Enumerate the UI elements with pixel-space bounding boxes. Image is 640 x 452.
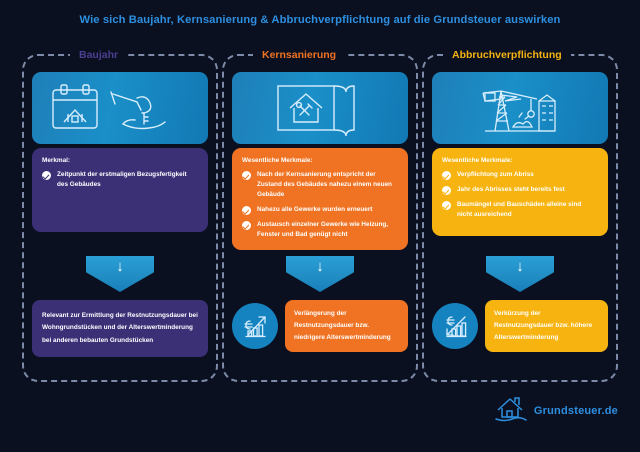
check-icon: [42, 171, 51, 180]
illustration-panel-abbruchverpflichtung: [432, 72, 608, 144]
arrow-down-icon: ↓: [286, 259, 354, 274]
check-icon: [442, 171, 451, 180]
arrow-shape: ↓: [86, 256, 154, 292]
feature-card-abbruchverpflichtung: Wesentliche Merkmale: Verpflichtung zum …: [432, 148, 608, 236]
result-text: Verlängerung der Restnutzungsdauer bzw. …: [285, 300, 408, 352]
demolition-crane-icon: [455, 77, 585, 139]
check-icon: [442, 201, 451, 210]
column-header-baujahr: Baujahr: [70, 46, 127, 64]
column-header-abbruchverpflichtung: Abbruchverpflichtung: [443, 46, 571, 64]
list-item: Verpflichtung zum Abriss: [442, 170, 598, 180]
list-item: Nach der Kernsanierung entspricht der Zu…: [242, 170, 398, 200]
list-item: Austausch einzelner Gewerke wie Heizung,…: [242, 220, 398, 240]
result-row-baujahr: Relevant zur Ermittlung der Restnutzungs…: [32, 300, 208, 357]
euro-chart-up-icon: [232, 303, 278, 349]
bullet-text: Nahezu alle Gewerke wurden erneuert: [257, 205, 372, 215]
footer-logo[interactable]: Grundsteuer.de: [494, 393, 618, 428]
illustration-panel-kernsanierung: [232, 72, 408, 144]
bullet-list: Nach der Kernsanierung entspricht der Zu…: [242, 170, 398, 240]
house-logo-icon: [494, 393, 528, 428]
list-item: Jahr des Abrisses steht bereits fest: [442, 185, 598, 195]
card-heading: Wesentliche Merkmale:: [442, 157, 598, 164]
bullet-text: Baumängel und Bauschäden alleine sind ni…: [457, 200, 598, 220]
list-item: Nahezu alle Gewerke wurden erneuert: [242, 205, 398, 215]
illustration-panel-baujahr: [32, 72, 208, 144]
logo-text: Grundsteuer.de: [534, 405, 618, 417]
arrow-shape: ↓: [486, 256, 554, 292]
blueprint-house-tools-icon: [260, 78, 380, 138]
bullet-text: Austausch einzelner Gewerke wie Heizung,…: [257, 220, 398, 240]
bullet-text: Nach der Kernsanierung entspricht der Zu…: [257, 170, 398, 200]
bullet-text: Jahr des Abrisses steht bereits fest: [457, 185, 565, 195]
arrow-down-icon: ↓: [86, 259, 154, 274]
check-icon: [242, 221, 251, 230]
bullet-list: Verpflichtung zum Abriss Jahr des Abriss…: [442, 170, 598, 220]
feature-card-baujahr: Merkmal: Zeitpunkt der erstmaligen Bezug…: [32, 148, 208, 232]
bullet-text: Zeitpunkt der erstmaligen Bezugsfertigke…: [57, 170, 198, 190]
check-icon: [242, 171, 251, 180]
feature-card-kernsanierung: Wesentliche Merkmale: Nach der Kernsanie…: [232, 148, 408, 250]
euro-chart-down-icon: [432, 303, 478, 349]
check-icon: [242, 206, 251, 215]
arrow-down-icon: ↓: [486, 259, 554, 274]
card-heading: Wesentliche Merkmale:: [242, 157, 398, 164]
result-row-kernsanierung: Verlängerung der Restnutzungsdauer bzw. …: [232, 300, 408, 352]
flow-arrow-kernsanierung: ↓: [286, 256, 354, 292]
result-text: Verkürzung der Restnutzungsdauer bzw. hö…: [485, 300, 608, 352]
result-row-abbruchverpflichtung: Verkürzung der Restnutzungsdauer bzw. hö…: [432, 300, 608, 352]
check-icon: [442, 186, 451, 195]
list-item: Baumängel und Bauschäden alleine sind ni…: [442, 200, 598, 220]
page-title: Wie sich Baujahr, Kernsanierung & Abbruc…: [0, 14, 640, 26]
flow-arrow-baujahr: ↓: [86, 256, 154, 292]
arrow-shape: ↓: [286, 256, 354, 292]
flow-arrow-abbruchverpflichtung: ↓: [486, 256, 554, 292]
list-item: Zeitpunkt der erstmaligen Bezugsfertigke…: [42, 170, 198, 190]
infographic-canvas: Wie sich Baujahr, Kernsanierung & Abbruc…: [0, 0, 640, 452]
result-text: Relevant zur Ermittlung der Restnutzungs…: [32, 300, 208, 357]
bullet-text: Verpflichtung zum Abriss: [457, 170, 534, 180]
card-heading: Merkmal:: [42, 157, 198, 164]
bullet-list: Zeitpunkt der erstmaligen Bezugsfertigke…: [42, 170, 198, 190]
column-header-kernsanierung: Kernsanierung: [253, 46, 345, 64]
calendar-house-key-icon: [45, 80, 195, 136]
